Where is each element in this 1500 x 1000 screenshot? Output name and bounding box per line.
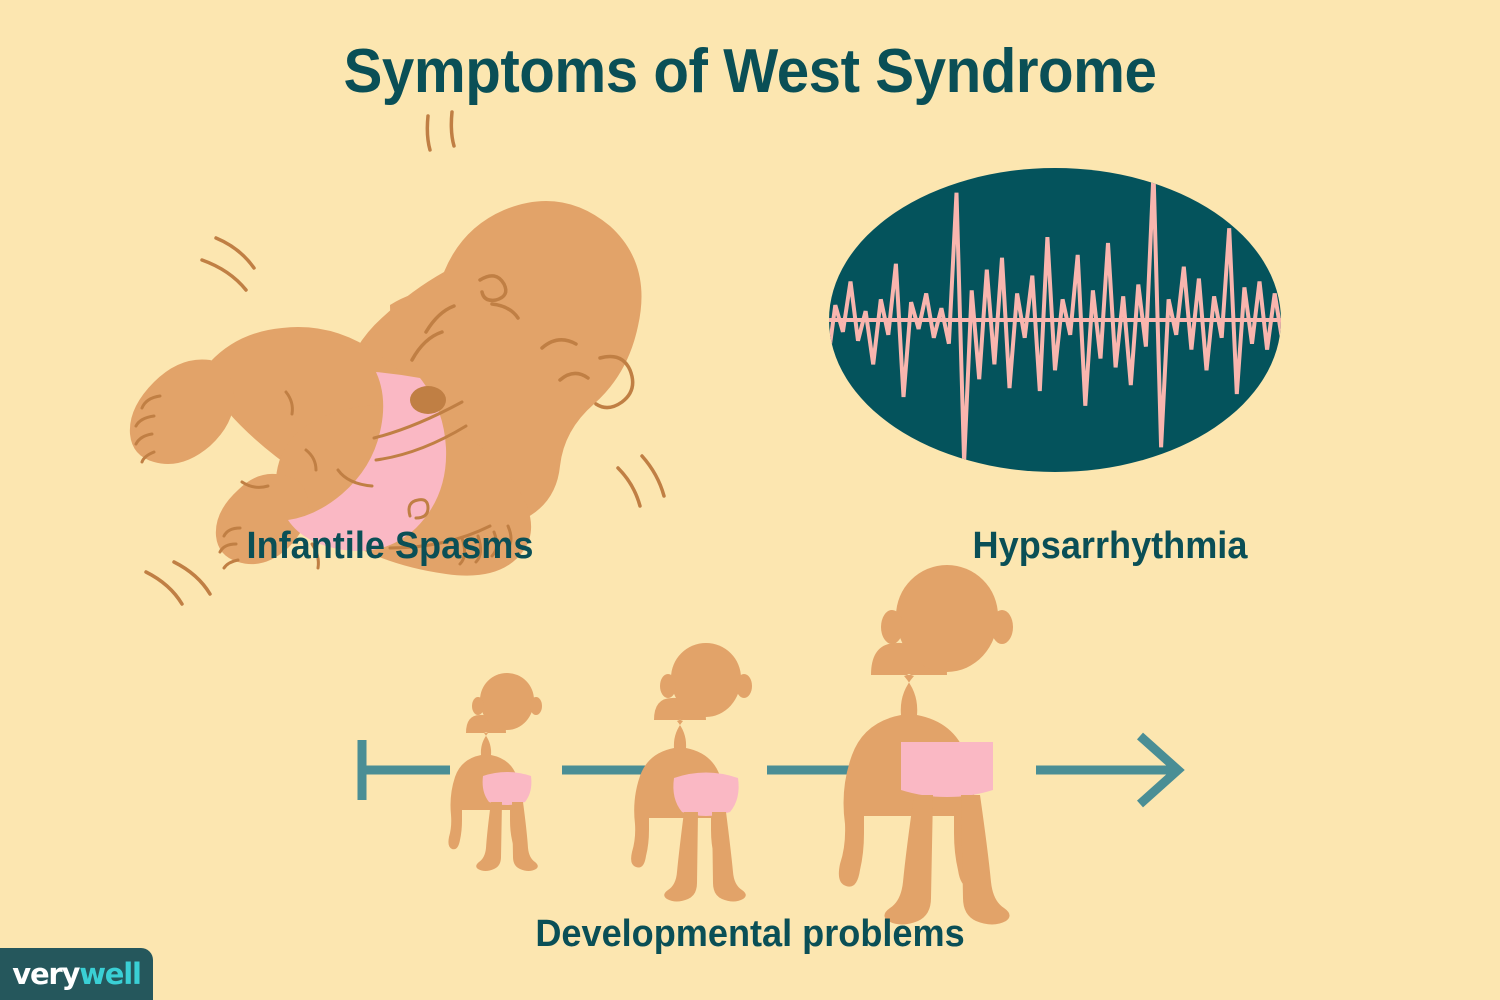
infant-ear-left [472, 697, 484, 715]
baby-spasm-illustration [90, 120, 680, 520]
infant-diaper [483, 772, 532, 805]
infographic-canvas: Symptoms of West Syndrome [0, 0, 1500, 1000]
infant-leg-right [512, 802, 538, 871]
adult-leg-right [961, 795, 1010, 925]
motion-line-head-2 [451, 112, 454, 146]
motion-line-right-2 [642, 456, 664, 496]
adult-ear-right [991, 610, 1013, 644]
adult-shorts [901, 742, 993, 797]
adult-head [896, 565, 998, 672]
toddler-ear-right [736, 674, 752, 698]
motion-line-head-1 [427, 116, 430, 150]
verywell-logo[interactable]: verywell [0, 948, 153, 1000]
motion-line-bottom-1 [146, 572, 182, 604]
baby-foot-upper [130, 359, 234, 464]
infant-ear-right [530, 697, 542, 715]
timeline-figure-infant [448, 673, 542, 871]
motion-line-top-left-2 [202, 260, 246, 290]
timeline-figure-toddler [631, 643, 752, 902]
logo-well: well [79, 957, 141, 991]
timeline-figure-adult [839, 565, 1013, 925]
baby-figure [130, 201, 642, 576]
motion-line-right-1 [618, 468, 640, 506]
eeg-chart [815, 160, 1295, 490]
label-hypsarrhythmia: Hypsarrhythmia [797, 525, 1424, 568]
panel-infantile-spasms [90, 120, 680, 520]
toddler-diaper [673, 773, 738, 817]
baby-birthmark [410, 386, 446, 414]
motion-line-top-left-1 [216, 238, 254, 268]
logo-wordmark: verywell [12, 960, 141, 989]
adult-ear-left [881, 610, 903, 644]
label-infantile-spasms: Infantile Spasms [20, 525, 761, 568]
panel-developmental-timeline [330, 600, 1230, 900]
toddler-ear-left [660, 674, 676, 698]
growth-timeline [330, 600, 1230, 900]
label-developmental-problems: Developmental problems [38, 913, 1463, 956]
logo-very: very [12, 957, 79, 991]
toddler-leg-right [712, 812, 746, 902]
panel-hypsarrhythmia [815, 160, 1295, 490]
infant-leg-left [476, 802, 502, 871]
page-title: Symptoms of West Syndrome [45, 36, 1455, 107]
toddler-leg-left [664, 812, 698, 902]
